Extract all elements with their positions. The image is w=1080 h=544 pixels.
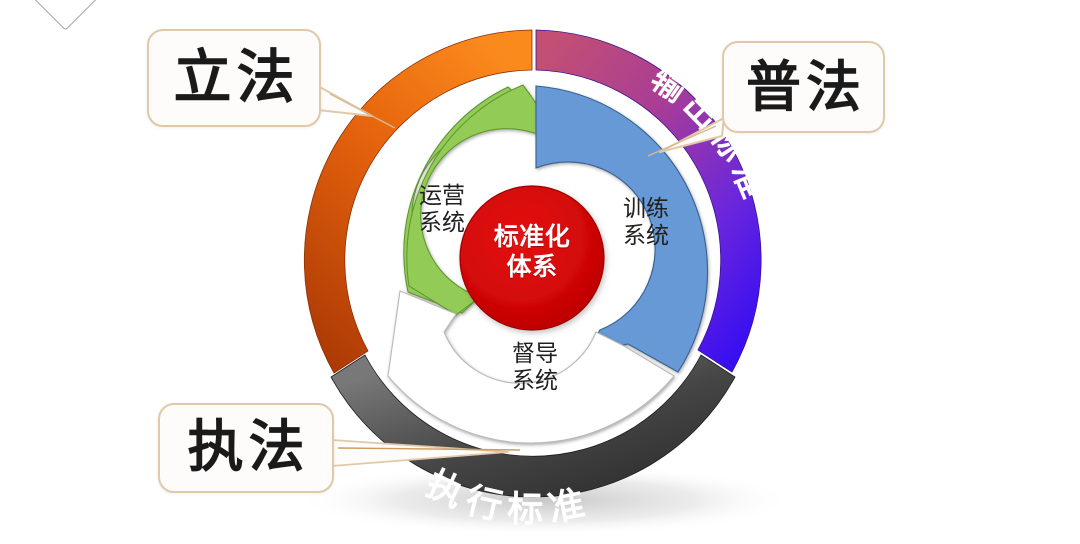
core-circle[interactable]	[460, 186, 604, 330]
callout-zhifa-label: 执法	[183, 420, 310, 476]
callout-lifa-label: 立法	[168, 49, 299, 107]
diagram-canvas: 建立标准 输出标准 执行标准 运营 系统 训练 系统 督导 系统	[0, 0, 1080, 544]
callout-pufa[interactable]: 普法	[722, 41, 885, 133]
outer-label-establish: 建立标准	[255, 181, 310, 355]
callout-pufa-label: 普法	[741, 60, 866, 115]
callout-zhifa[interactable]: 执法	[158, 403, 334, 493]
callout-lifa[interactable]: 立法	[147, 29, 321, 127]
